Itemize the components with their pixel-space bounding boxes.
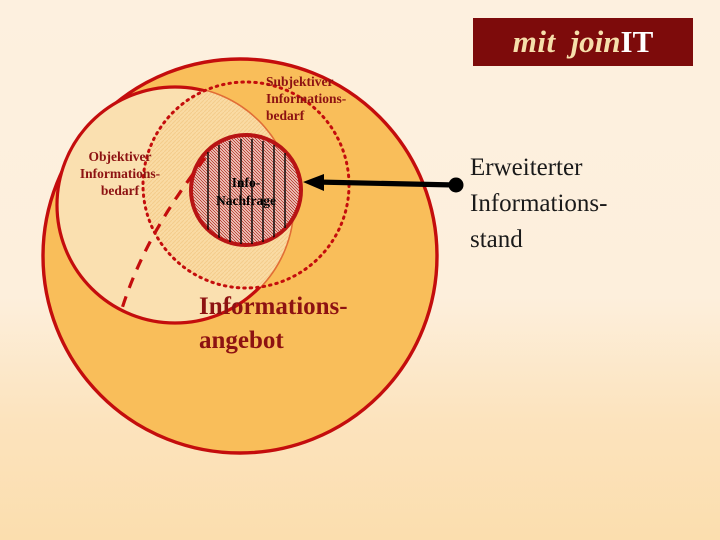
label-erweiterter-informationsstand: Erweiterter Informations- stand <box>470 150 700 258</box>
logo-word-join: join <box>571 24 621 60</box>
label-informationsangebot: Informations- angebot <box>199 290 429 358</box>
label-subjektiver-informationsbedarf: Subjektiver Informations- bedarf <box>266 73 388 124</box>
label-objektiver-informationsbedarf: Objektiver Informations- bedarf <box>60 148 180 199</box>
logo-word-it: IT <box>621 24 654 60</box>
label-info-nachfrage: Info- Nachfrage <box>198 174 294 210</box>
slide-canvas: mitjoinIT Objektiver Informations- bedar… <box>0 0 720 540</box>
logo-word-mit: mit <box>513 24 556 60</box>
joinit-logo: mitjoinIT <box>473 18 693 66</box>
